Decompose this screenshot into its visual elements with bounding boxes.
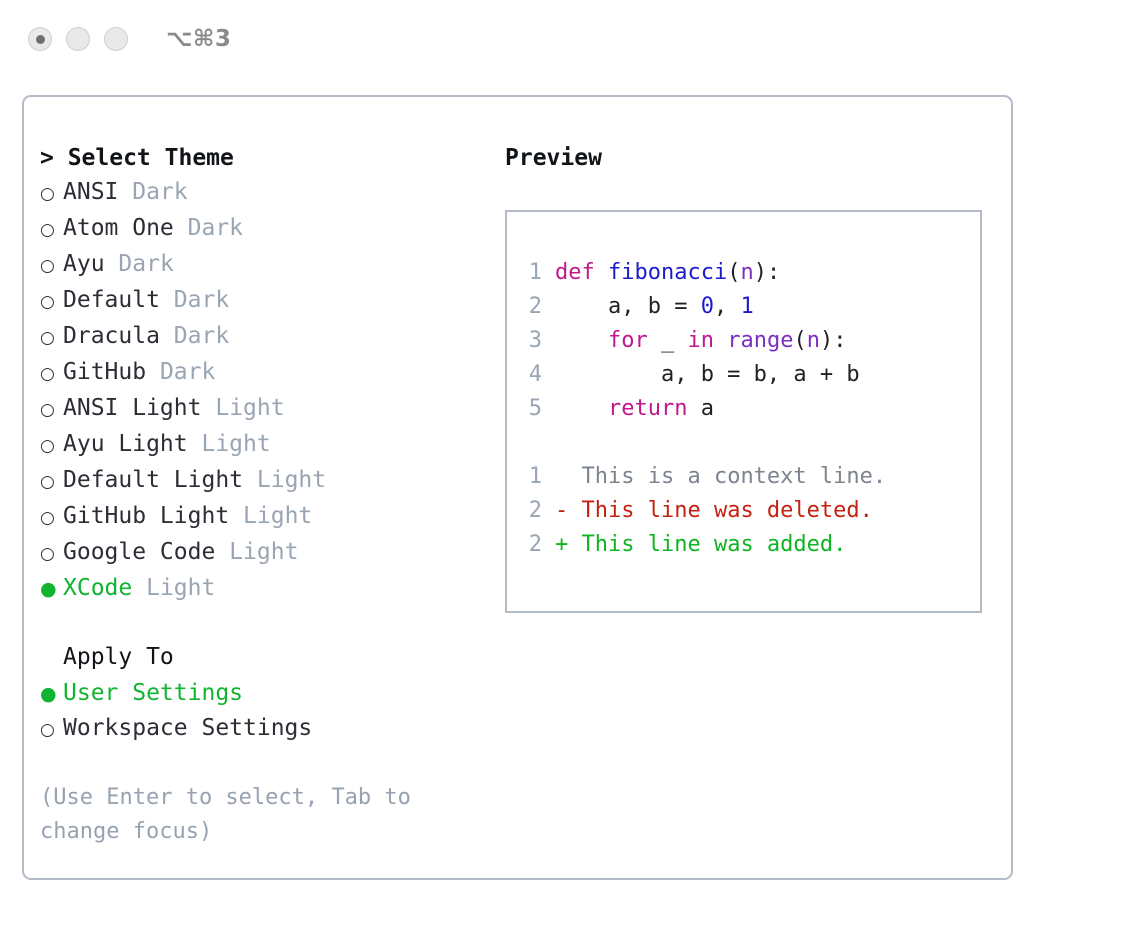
theme-name: Ayu Light <box>63 427 188 461</box>
radio-unselected-icon: ○ <box>40 249 63 283</box>
radio-unselected-icon: ○ <box>40 501 63 535</box>
theme-name: ANSI Light <box>63 391 201 425</box>
token-var: n <box>740 260 753 285</box>
line-number: 1 <box>507 460 555 494</box>
theme-name: XCode <box>63 571 132 605</box>
name-variant-space <box>243 463 257 497</box>
diff-line: 1 This is a context line. <box>507 460 980 494</box>
theme-option-xcode[interactable]: ●XCode Light <box>40 571 504 606</box>
theme-variant-badge: Dark <box>188 211 243 245</box>
diff-sign-space <box>568 528 581 562</box>
code-line: 1def fibonacci(n): <box>507 256 980 290</box>
window-titlebar: ⌥⌘3 <box>0 0 1140 78</box>
theme-variant-badge: Dark <box>174 319 229 353</box>
line-number: 2 <box>507 528 555 562</box>
theme-variant-badge: Dark <box>160 355 215 389</box>
window-control-minimize[interactable] <box>66 27 90 51</box>
app-window: ⌥⌘3 > Select Theme ○ANSI Dark○Atom One D… <box>0 0 1140 934</box>
theme-variant-badge: Light <box>243 499 312 533</box>
token-fn: fibonacci <box>608 260 727 285</box>
token-plain: a, b = <box>555 294 701 319</box>
code-text: def fibonacci(n): <box>555 256 780 290</box>
token-bi: range <box>727 328 793 353</box>
diff-sign <box>555 460 568 494</box>
keyboard-shortcut-label: ⌥⌘3 <box>166 26 231 52</box>
code-line: 4 a, b = b, a + b <box>507 358 980 392</box>
theme-name: Default <box>63 283 160 317</box>
theme-option-ansi-light[interactable]: ○ANSI Light Light <box>40 391 504 427</box>
diff-sample: 1 This is a context line.2- This line wa… <box>507 460 980 562</box>
radio-unselected-icon: ○ <box>40 393 63 427</box>
theme-variant-badge: Light <box>257 463 326 497</box>
code-line: 3 for _ in range(n): <box>507 324 980 358</box>
code-sample: 1def fibonacci(n):2 a, b = 0, 13 for _ i… <box>507 256 980 426</box>
diff-text: This line was added. <box>582 528 847 562</box>
apply-to-option-user-settings[interactable]: ●User Settings <box>40 676 504 711</box>
diff-text: This is a context line. <box>582 460 887 494</box>
theme-option-github-light[interactable]: ○GitHub Light Light <box>40 499 504 535</box>
token-kw: for <box>608 328 648 353</box>
apply-to-label: Workspace Settings <box>63 711 312 745</box>
token-plain: ( <box>727 260 740 285</box>
radio-selected-icon: ● <box>40 677 63 711</box>
preview-heading: Preview <box>505 141 1011 175</box>
theme-name: ANSI <box>63 175 118 209</box>
window-control-maximize[interactable] <box>104 27 128 51</box>
diff-line: 2- This line was deleted. <box>507 494 980 528</box>
token-plain <box>555 396 608 421</box>
select-theme-heading: > Select Theme <box>40 141 504 175</box>
radio-unselected-icon: ○ <box>40 213 63 247</box>
token-num: 1 <box>740 294 753 319</box>
radio-unselected-icon: ○ <box>40 429 63 463</box>
theme-variant-badge: Light <box>215 391 284 425</box>
radio-unselected-icon: ○ <box>40 465 63 499</box>
code-line: 2 a, b = 0, 1 <box>507 290 980 324</box>
theme-option-default[interactable]: ○Default Dark <box>40 283 504 319</box>
token-plain: ): <box>754 260 781 285</box>
diff-sign: + <box>555 528 568 562</box>
radio-unselected-icon: ○ <box>40 177 63 211</box>
token-plain: , <box>714 294 741 319</box>
theme-name: Default Light <box>63 463 243 497</box>
token-plain <box>714 328 727 353</box>
token-plain: _ <box>648 328 688 353</box>
code-text: for _ in range(n): <box>555 324 846 358</box>
token-var: n <box>807 328 820 353</box>
name-variant-space <box>146 355 160 389</box>
theme-variant-badge: Dark <box>132 175 187 209</box>
name-variant-space <box>160 283 174 317</box>
code-diff-spacer <box>507 426 980 460</box>
preview-column: Preview 1def fibonacci(n):2 a, b = 0, 13… <box>504 141 1011 849</box>
line-number: 2 <box>507 494 555 528</box>
window-controls <box>28 27 128 51</box>
radio-unselected-icon: ○ <box>40 713 63 747</box>
theme-variant-badge: Light <box>146 571 215 605</box>
name-variant-space <box>201 391 215 425</box>
theme-variant-badge: Dark <box>118 247 173 281</box>
theme-name: Google Code <box>63 535 215 569</box>
code-text: a, b = 0, 1 <box>555 290 754 324</box>
token-kw: in <box>687 328 714 353</box>
theme-option-atom-one[interactable]: ○Atom One Dark <box>40 211 504 247</box>
token-plain: a, b = b, a + b <box>555 362 860 387</box>
apply-to-heading: Apply To <box>63 640 174 674</box>
theme-variant-badge: Dark <box>174 283 229 317</box>
name-variant-space <box>160 319 174 353</box>
main-panel: > Select Theme ○ANSI Dark○Atom One Dark○… <box>22 95 1013 880</box>
line-number: 2 <box>507 290 555 324</box>
name-variant-space <box>229 499 243 533</box>
apply-to-option-workspace-settings[interactable]: ○Workspace Settings <box>40 711 504 747</box>
apply-to-list[interactable]: ●User Settings○Workspace Settings <box>40 676 504 747</box>
list-spacer <box>40 606 504 640</box>
apply-to-heading-row: ○ Apply To <box>40 640 504 676</box>
name-variant-space <box>215 535 229 569</box>
theme-name: GitHub Light <box>63 499 229 533</box>
line-number: 1 <box>507 256 555 290</box>
diff-sign-space <box>568 460 581 494</box>
theme-option-github[interactable]: ○GitHub Dark <box>40 355 504 391</box>
token-kw: def <box>555 260 608 285</box>
radio-unselected-icon: ○ <box>40 321 63 355</box>
theme-option-ayu-light[interactable]: ○Ayu Light Light <box>40 427 504 463</box>
theme-variant-badge: Light <box>229 535 298 569</box>
radio-unselected-icon: ○ <box>40 357 63 391</box>
theme-name: Ayu <box>63 247 105 281</box>
code-line: 5 return a <box>507 392 980 426</box>
theme-option-dracula[interactable]: ○Dracula Dark <box>40 319 504 355</box>
code-text: return a <box>555 392 714 426</box>
diff-sign: - <box>555 494 568 528</box>
line-number: 5 <box>507 392 555 426</box>
token-num: 0 <box>701 294 714 319</box>
token-plain <box>555 328 608 353</box>
name-variant-space <box>174 211 188 245</box>
theme-variant-badge: Light <box>201 427 270 461</box>
token-kw: return <box>608 396 687 421</box>
token-plain: ( <box>793 328 806 353</box>
window-control-close[interactable] <box>28 27 52 51</box>
keyboard-hint-text: (Use Enter to select, Tab to change focu… <box>40 781 460 849</box>
radio-unselected-icon: ○ <box>40 285 63 319</box>
diff-text: This line was deleted. <box>582 494 873 528</box>
radio-selected-icon: ● <box>40 572 63 606</box>
name-variant-space <box>118 175 132 209</box>
theme-name: Atom One <box>63 211 174 245</box>
diff-line: 2+ This line was added. <box>507 528 980 562</box>
theme-option-ansi[interactable]: ○ANSI Dark <box>40 175 504 211</box>
theme-name: Dracula <box>63 319 160 353</box>
name-variant-space <box>132 571 146 605</box>
blank-marker-icon: ○ <box>40 642 63 676</box>
theme-selection-column: > Select Theme ○ANSI Dark○Atom One Dark○… <box>40 141 504 849</box>
preview-code-box: 1def fibonacci(n):2 a, b = 0, 13 for _ i… <box>505 210 982 613</box>
active-dot-icon <box>36 35 45 44</box>
theme-option-ayu[interactable]: ○Ayu Dark <box>40 247 504 283</box>
theme-name: GitHub <box>63 355 146 389</box>
diff-sign-space <box>568 494 581 528</box>
apply-to-label: User Settings <box>63 676 243 710</box>
line-number: 4 <box>507 358 555 392</box>
theme-list[interactable]: ○ANSI Dark○Atom One Dark○Ayu Dark○Defaul… <box>40 175 504 606</box>
theme-option-default-light[interactable]: ○Default Light Light <box>40 463 504 499</box>
code-text: a, b = b, a + b <box>555 358 860 392</box>
token-plain: ): <box>820 328 847 353</box>
theme-option-google-code[interactable]: ○Google Code Light <box>40 535 504 571</box>
token-plain: a <box>687 396 714 421</box>
name-variant-space <box>188 427 202 461</box>
name-variant-space <box>105 247 119 281</box>
radio-unselected-icon: ○ <box>40 537 63 571</box>
line-number: 3 <box>507 324 555 358</box>
